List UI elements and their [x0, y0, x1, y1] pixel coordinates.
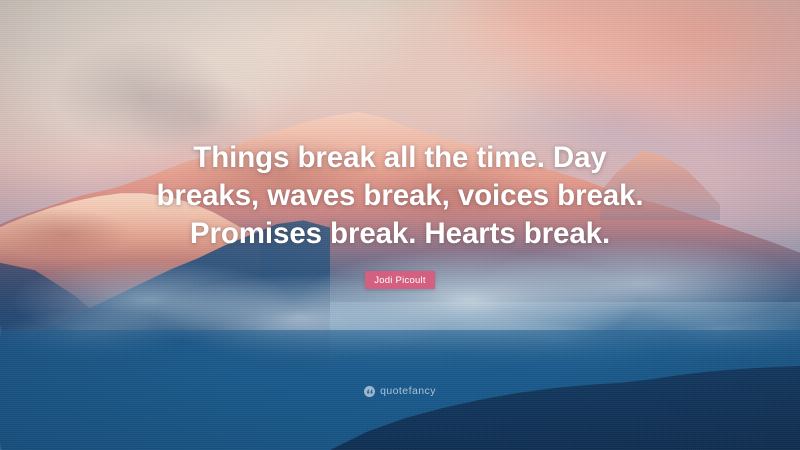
- quote-line-3: Promises break. Hearts break.: [120, 215, 680, 253]
- quote-text: Things break all the time. Day breaks, w…: [120, 139, 680, 253]
- poster-content: Things break all the time. Day breaks, w…: [0, 0, 800, 450]
- author-name: Jodi Picoult: [374, 275, 426, 286]
- watermark[interactable]: quotefancy: [0, 385, 800, 397]
- author-badge[interactable]: Jodi Picoult: [365, 271, 435, 289]
- quote-poster: Things break all the time. Day breaks, w…: [0, 0, 800, 450]
- quote-mark-icon: [364, 386, 375, 397]
- watermark-brand: quotefancy: [380, 385, 436, 397]
- quote-line-1: Things break all the time. Day: [120, 139, 680, 177]
- quote-line-2: breaks, waves break, voices break.: [120, 177, 680, 215]
